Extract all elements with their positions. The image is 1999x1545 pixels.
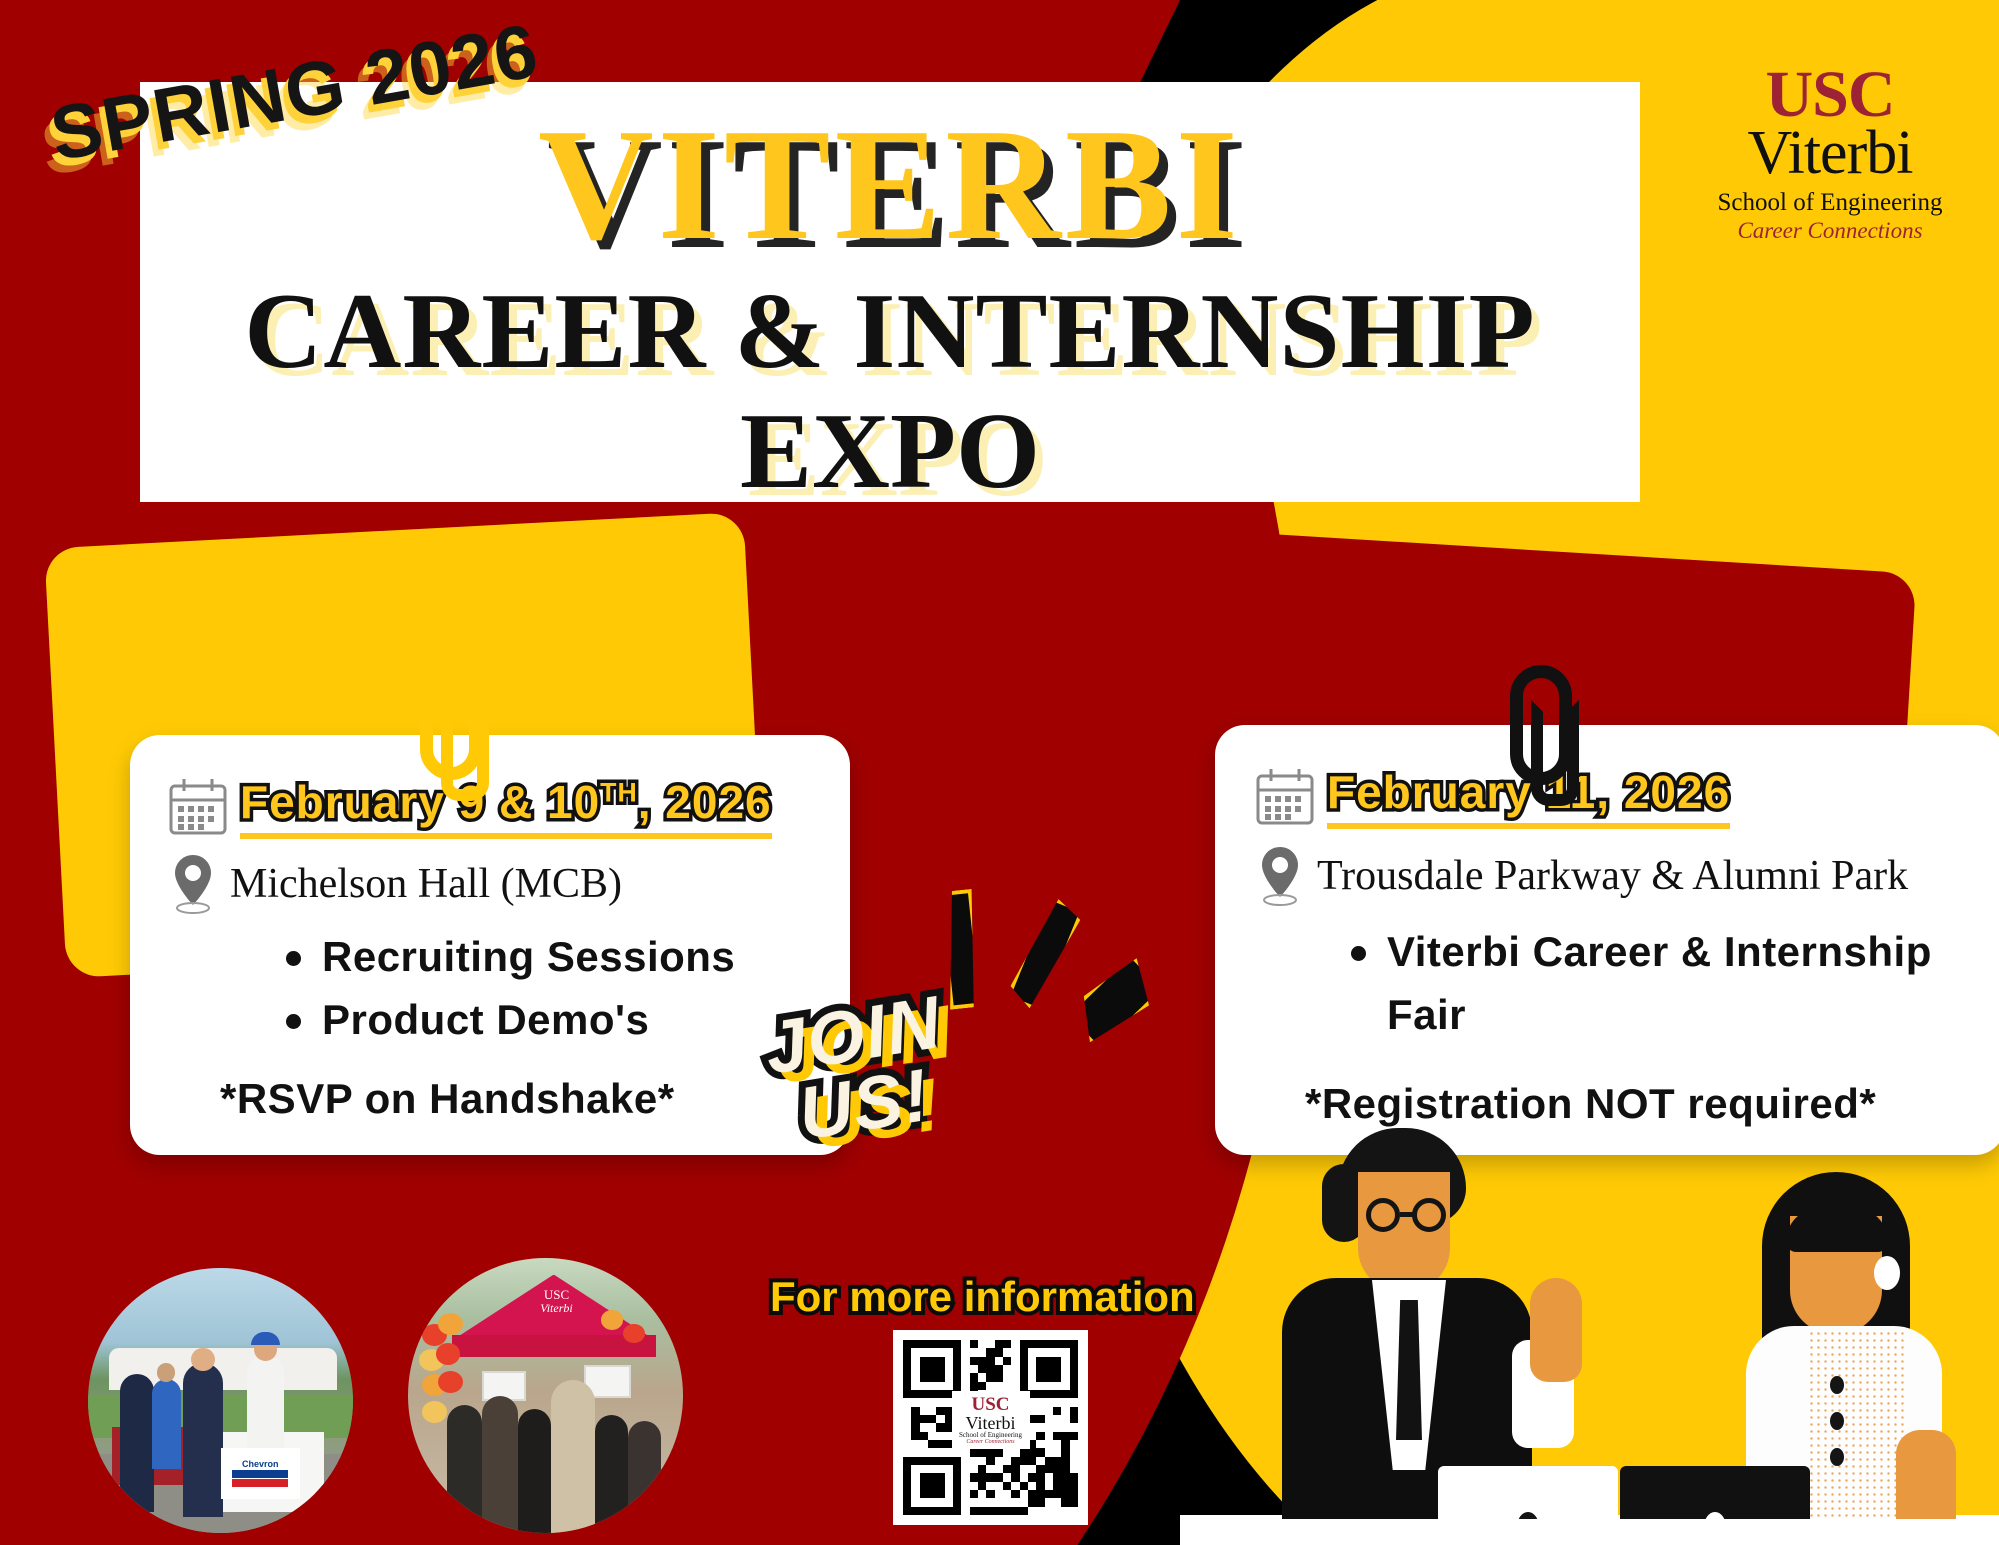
photo-person-suit-1 — [120, 1374, 154, 1512]
illustration-two-professionals — [1190, 1130, 1999, 1545]
paperclip-icon-left — [420, 660, 482, 780]
join-us-badge: JOIN US! — [760, 987, 956, 1152]
qr-logo-usc: USC — [971, 1395, 1009, 1414]
glasses-lens-right — [1412, 1198, 1446, 1232]
title-expo: EXPO — [140, 398, 1640, 506]
glasses-icon — [1366, 1198, 1454, 1234]
photo2-person — [518, 1409, 551, 1533]
logo-viterbi-text: Viterbi — [1700, 122, 1960, 184]
photo2-crowd — [408, 1374, 683, 1534]
list-item: Recruiting Sessions — [280, 925, 735, 988]
photo-viterbi-tent: USC Viterbi — [408, 1258, 683, 1533]
photo-person-blue — [152, 1379, 181, 1469]
bullet-list-day2: Viterbi Career & Internship Fair — [1345, 920, 1999, 1046]
logo-school-text: School of Engineering — [1700, 190, 1960, 215]
location-row-left: Michelson Hall (MCB) — [170, 853, 622, 915]
usc-viterbi-logo: USC Viterbi School of Engineering Career… — [1700, 62, 1960, 242]
glasses-lens-left — [1366, 1198, 1400, 1232]
info-card-day2: February 11, 2026 Trousdale Parkway & Al… — [1215, 725, 1999, 1155]
map-pin-icon — [170, 853, 216, 915]
chevron-stripe-blue — [232, 1470, 288, 1478]
balloon — [438, 1313, 463, 1335]
photo2-person — [447, 1405, 483, 1533]
man-pointing-hand — [1530, 1278, 1582, 1382]
woman-button — [1830, 1448, 1844, 1466]
title-card: VITERBI CAREER & INTERNSHIP EXPO — [140, 82, 1640, 502]
location-text-day1: Michelson Hall (MCB) — [230, 860, 622, 908]
desk-surface — [1180, 1519, 1999, 1545]
poster-canvas: VITERBI CAREER & INTERNSHIP EXPO SPRING … — [0, 0, 1999, 1545]
photo-person-suit-2 — [183, 1363, 223, 1517]
woman-button — [1830, 1412, 1844, 1430]
info-card-day1: February 9 & 10TH, 2026 Michelson Hall (… — [130, 735, 850, 1155]
photo2-person — [628, 1421, 661, 1533]
note-registration: *Registration NOT required* — [1305, 1080, 1876, 1128]
man-tie — [1396, 1300, 1422, 1440]
ray-1 — [938, 889, 984, 1010]
starburst-rays — [930, 890, 1120, 1050]
woman-earring — [1874, 1256, 1900, 1290]
date-text-day1: February 9 & 10TH, 2026 — [240, 775, 772, 839]
list-item: Viterbi Career & Internship Fair — [1345, 920, 1999, 1046]
woman-blouse-texture — [1808, 1330, 1904, 1545]
qr-center-logo: USC Viterbi School of Engineering Career… — [952, 1391, 1030, 1449]
photo2-tent-label: USC Viterbi — [502, 1288, 612, 1314]
bullet-list-day1: Recruiting Sessions Product Demo's — [280, 925, 735, 1051]
calendar-icon — [168, 778, 228, 836]
qr-logo-school: School of Engineering — [959, 1432, 1022, 1439]
photo2-brand-usc: USC — [544, 1287, 569, 1302]
list-item: Product Demo's — [280, 988, 735, 1051]
paperclip-icon-right — [1510, 665, 1572, 785]
woman-bangs — [1786, 1208, 1888, 1252]
photo2-brand-viterbi: Viterbi — [502, 1302, 612, 1315]
photo-career-fair-booth: Chevron — [88, 1268, 353, 1533]
calendar-icon — [1255, 768, 1315, 826]
title-career-internship: CAREER & INTERNSHIP — [140, 278, 1640, 386]
balloon — [623, 1324, 645, 1343]
location-row-right: Trousdale Parkway & Alumni Park — [1257, 845, 1908, 907]
map-pin-icon — [1257, 845, 1303, 907]
more-info-label: For more information — [770, 1273, 1195, 1321]
photo2-person — [482, 1396, 518, 1533]
title-viterbi: VITERBI — [140, 104, 1640, 264]
qr-logo-unit: Career Connections — [966, 1439, 1014, 1445]
photo2-person — [551, 1380, 595, 1533]
logo-unit-text: Career Connections — [1700, 219, 1960, 242]
photo-chevron-label: Chevron — [242, 1459, 279, 1469]
note-rsvp: *RSVP on Handshake* — [220, 1075, 675, 1123]
date-row-right: February 11, 2026 — [1255, 765, 1730, 829]
qr-logo-viterbi: Viterbi — [966, 1414, 1016, 1432]
ray-2 — [1005, 895, 1084, 1014]
balloon — [601, 1310, 623, 1329]
qr-code[interactable]: USC Viterbi School of Engineering Career… — [893, 1330, 1088, 1525]
location-text-day2: Trousdale Parkway & Alumni Park — [1317, 852, 1908, 900]
woman-button — [1830, 1376, 1844, 1394]
chevron-stripe-red — [232, 1479, 288, 1487]
photo-chevron-sign: Chevron — [221, 1448, 301, 1498]
photo2-person — [595, 1415, 628, 1533]
